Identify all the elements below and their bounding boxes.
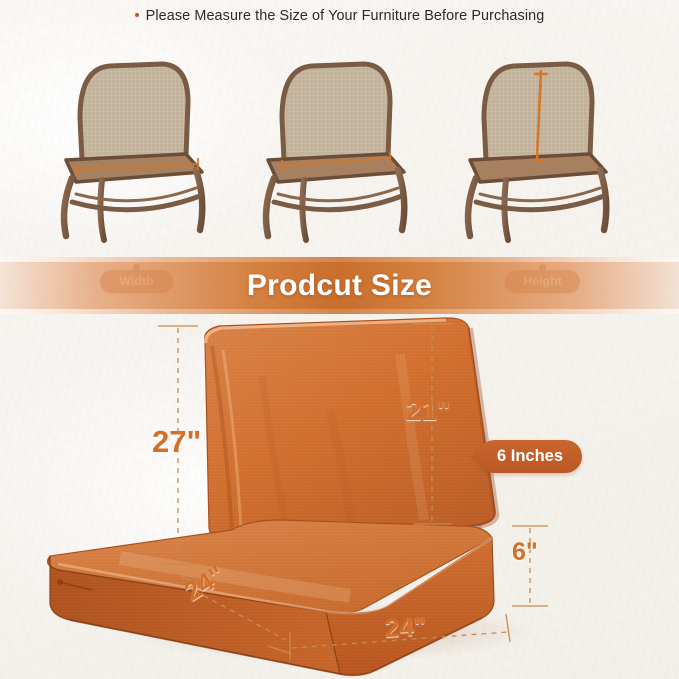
- back-cushion-shape: [205, 318, 496, 540]
- thickness-callout-text: 6 Inches: [497, 447, 563, 465]
- page-headline: Please Measure the Size of Your Furnitur…: [0, 8, 679, 24]
- callout-pointer-icon: [470, 452, 479, 462]
- dimension-label-27: 27": [152, 424, 201, 460]
- chair-illustration-height: [440, 44, 640, 244]
- dimension-label-6: 6": [512, 538, 538, 567]
- chair-illustration-depth: [238, 44, 438, 244]
- bullet-dot-icon: [135, 13, 139, 17]
- headline-text: Please Measure the Size of Your Furnitur…: [146, 8, 545, 24]
- chair-illustration-row: Width Depth Height: [0, 44, 679, 244]
- product-size-banner: Prodcut Size: [0, 257, 679, 314]
- dimension-label-21: 21": [406, 395, 450, 427]
- chair-illustration-width: [36, 44, 236, 244]
- product-cushion-illustration: [0, 314, 679, 679]
- banner-top-strip: [0, 257, 679, 262]
- dimension-label-24-width: 24": [384, 611, 427, 644]
- thickness-callout-badge: 6 Inches: [478, 440, 582, 473]
- banner-title: Prodcut Size: [0, 269, 679, 303]
